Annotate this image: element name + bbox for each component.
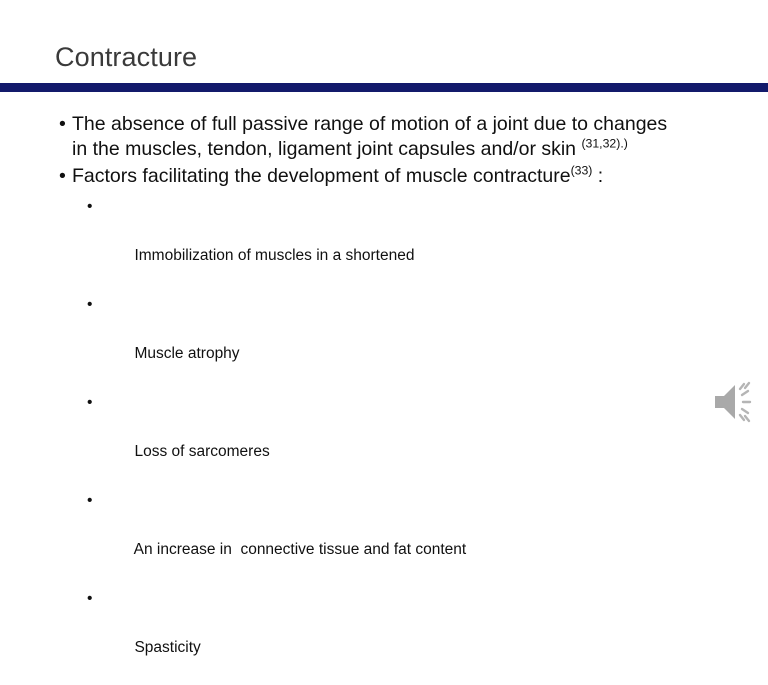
bullet-glyph: • bbox=[87, 587, 92, 612]
list-item: • Loss of sarcomeres bbox=[0, 391, 768, 489]
bullet-glyph: • bbox=[87, 489, 92, 514]
list-item-label: Immobilization of muscles in a shortened bbox=[134, 247, 414, 264]
sound-waves bbox=[740, 383, 750, 421]
citation-superscript: (33) bbox=[571, 164, 593, 178]
list-item-label: Spasticity bbox=[134, 639, 200, 656]
list-item: • Spasticity bbox=[0, 587, 768, 685]
speaker-body bbox=[715, 385, 735, 419]
bullet-glyph: • bbox=[87, 195, 92, 220]
bullet-line: Factors facilitating the development of … bbox=[72, 164, 768, 189]
slide-body: • The absence of full passive range of m… bbox=[0, 112, 768, 685]
bullet-glyph: • bbox=[87, 391, 92, 416]
list-item: • Muscle atrophy bbox=[0, 293, 768, 391]
citation-trailing: : bbox=[592, 165, 603, 187]
bullet-glyph: • bbox=[59, 112, 66, 137]
bullet-item: • The absence of full passive range of m… bbox=[0, 112, 768, 162]
title-divider-bar bbox=[0, 83, 768, 92]
bullet-line: The absence of full passive range of mot… bbox=[72, 112, 768, 137]
speaker-icon[interactable] bbox=[709, 378, 761, 426]
bullet-glyph: • bbox=[59, 164, 66, 189]
bullet-glyph: • bbox=[87, 293, 92, 318]
page-title: Contracture bbox=[55, 43, 197, 73]
bullet-line-text: in the muscles, tendon, ligament joint c… bbox=[72, 138, 581, 160]
list-item-label: An increase in connective tissue and fat… bbox=[134, 541, 467, 558]
list-item-label: Muscle atrophy bbox=[134, 345, 239, 362]
list-item: • An increase in connective tissue and f… bbox=[0, 489, 768, 587]
bullet-item: • Factors facilitating the development o… bbox=[0, 164, 768, 189]
list-item: • Immobilization of muscles in a shorten… bbox=[0, 195, 768, 293]
sub-bullet-list: • Immobilization of muscles in a shorten… bbox=[0, 195, 768, 685]
slide: Contracture • The absence of full passiv… bbox=[0, 0, 768, 432]
list-item-label: Loss of sarcomeres bbox=[134, 443, 269, 460]
bullet-line-text: Factors facilitating the development of … bbox=[72, 165, 571, 187]
bullet-line: in the muscles, tendon, ligament joint c… bbox=[72, 137, 768, 162]
citation-superscript: (31,32).) bbox=[581, 137, 627, 151]
